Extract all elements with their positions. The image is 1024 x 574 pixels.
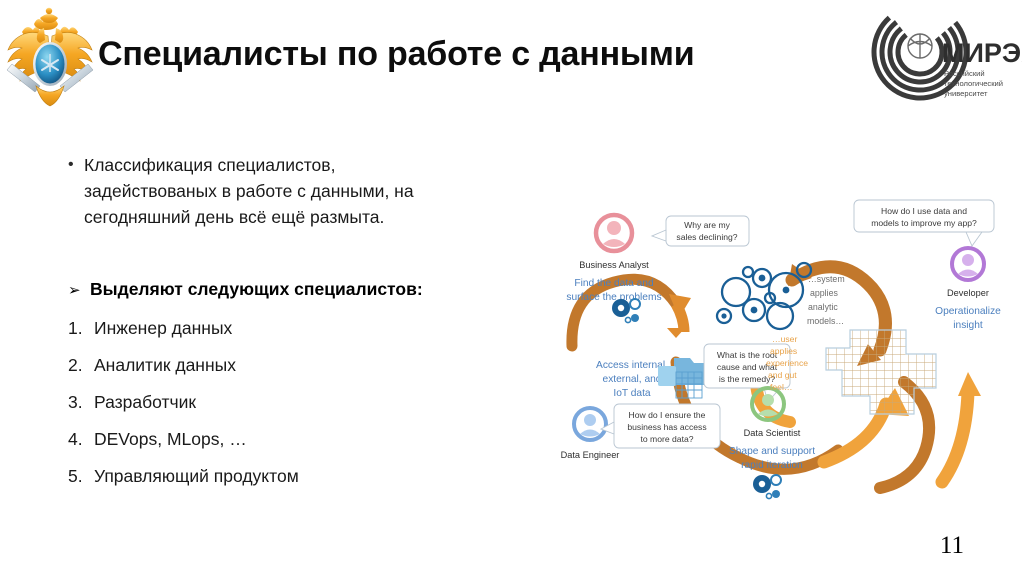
mirea-logo: МИРЭА Российский технологический универс… (866, 2, 1022, 102)
business-analyst-bubble-line-1: Why are my (684, 220, 731, 230)
page-title: Специалисты по работе с данными (98, 36, 798, 73)
data-engineer-caption-line-2: external, and (603, 374, 662, 385)
user-applies-line-5: feel… (770, 382, 792, 392)
business-analyst-caption-line-2: surface the problems (566, 292, 661, 303)
list-item: 1. Инженер данных (68, 318, 488, 355)
business-analyst-bubble-line-2: sales declining? (676, 232, 737, 242)
analytics-network-nodes (721, 275, 789, 319)
highlight-heading-label: Выделяют следующих специалистов: (90, 279, 423, 300)
list-item-marker: 2. (68, 355, 94, 376)
data-engineer-bubble-line-1: How do I ensure the (629, 410, 706, 420)
developer-caption-line-2: insight (953, 320, 983, 331)
developer-speech-bubble: How do I use data and models to improve … (854, 200, 994, 246)
page-number: 11 (940, 532, 964, 560)
system-applies-line-3: analytic (808, 302, 838, 312)
developer-caption-line-1: Operationalize (935, 306, 1001, 317)
mirea-subtitle-line-2: технологический (944, 79, 1003, 88)
list-item-label: Инженер данных (94, 318, 232, 339)
user-applies-line-3: experience (766, 358, 808, 368)
highlight-heading: ➢ Выделяют следующих специалистов: (68, 279, 423, 300)
bullet-line-3: сегодняшний день всё ещё размыта. (84, 207, 384, 227)
data-engineer-caption-line-1: Access internal, (596, 360, 668, 371)
data-scientist-label: Data Scientist (744, 428, 801, 438)
list-item-marker: 1. (68, 318, 94, 339)
list-item-label: Аналитик данных (94, 355, 236, 376)
gear-cluster-icon-bottom (753, 475, 781, 499)
business-analyst-avatar (596, 215, 632, 251)
data-scientist-caption-line-2: rapid iteration (741, 460, 803, 471)
business-analyst-speech-bubble: Why are my sales declining? (652, 216, 749, 246)
business-analyst-caption-line-1: Find the data and (574, 278, 654, 289)
data-engineer-caption-line-3: IoT data (613, 388, 651, 399)
data-engineer-label: Data Engineer (561, 450, 620, 460)
user-applies-line-1: …user (772, 334, 797, 344)
list-item: 5. Управляющий продуктом (68, 466, 488, 503)
data-engineer-bubble-line-3: to more data? (640, 434, 693, 444)
list-item-marker: 4. (68, 429, 94, 450)
arrow-to-developer (942, 372, 981, 482)
bullet-text: Классификация специалистов, задействован… (84, 152, 414, 230)
arrow-bullet-icon: ➢ (68, 281, 90, 299)
data-scientist-bubble-line-3: is the remedy? (719, 374, 776, 384)
data-engineer-bubble-line-2: business has access (627, 422, 706, 432)
business-analyst-label: Business Analyst (579, 260, 649, 270)
list-item-label: Разработчик (94, 392, 196, 413)
system-applies-line-4: models… (807, 316, 844, 326)
list-item-label: DEVops, MLops, … (94, 429, 247, 450)
specialists-numbered-list: 1. Инженер данных 2. Аналитик данных 3. … (68, 318, 488, 503)
list-item: 4. DEVops, MLops, … (68, 429, 488, 466)
system-applies-line-2: applies (810, 288, 838, 298)
list-item-label: Управляющий продуктом (94, 466, 299, 487)
list-item: • Классификация специалистов, задействов… (68, 152, 468, 230)
developer-bubble-line-1: How do I use data and (881, 206, 967, 216)
system-applies-line-1: …system (808, 274, 845, 284)
russian-federation-double-headed-eagle-emblem (4, 2, 96, 108)
data-scientist-caption-line-1: Shape and support (729, 446, 815, 457)
list-item: 3. Разработчик (68, 392, 488, 429)
slide-canvas: Специалисты по работе с данными МИРЭА Ро… (0, 0, 1024, 574)
mirea-subtitle-line-3: университет (944, 89, 988, 98)
list-item-marker: 5. (68, 466, 94, 487)
bullet-line-1: Классификация специалистов, (84, 155, 335, 175)
user-applies-line-4: and gut (768, 370, 797, 380)
mirea-subtitle-line-1: Российский (944, 69, 985, 78)
developer-label: Developer (947, 288, 989, 298)
developer-avatar (952, 248, 984, 280)
data-roles-lifecycle-diagram: Business Analyst Find the data and surfa… (548, 186, 1024, 512)
intro-bullet-list: • Классификация специалистов, задействов… (68, 152, 468, 230)
data-engineer-avatar (574, 408, 606, 440)
list-item: 2. Аналитик данных (68, 355, 488, 392)
list-item-marker: 3. (68, 392, 94, 413)
user-applies-line-2: applies (770, 346, 797, 356)
mirea-wordmark: МИРЭА (942, 38, 1022, 68)
bullet-line-2: задействованых в работе с данными, на (84, 181, 414, 201)
developer-bubble-line-2: models to improve my app? (871, 218, 977, 228)
data-engineer-speech-bubble: How do I ensure the business has access … (601, 404, 720, 448)
bullet-dot-icon: • (68, 152, 84, 178)
arrow-ba-to-data (572, 279, 691, 346)
analytics-network-icon (717, 263, 811, 329)
